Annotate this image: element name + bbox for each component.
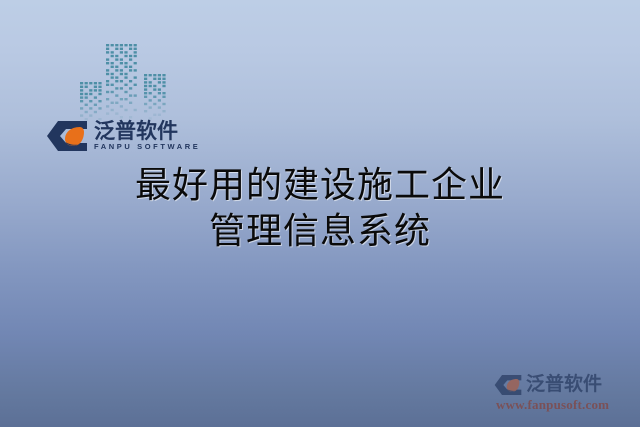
presentation-slide: 泛普软件 FANPU SOFTWARE 最好用的建设施工企业 管理信息系统 泛普… — [0, 0, 640, 427]
slide-title-line-2: 管理信息系统 — [0, 209, 640, 255]
slide-title-line-1: 最好用的建设施工企业 — [0, 163, 640, 209]
slide-title: 最好用的建设施工企业 管理信息系统 — [0, 163, 640, 254]
fanpu-logo-mark-icon — [46, 120, 88, 152]
company-name-en: FANPU SOFTWARE — [94, 142, 200, 153]
watermark-logo-row: 泛普软件 — [494, 374, 634, 396]
skyline-svg — [76, 38, 172, 122]
watermark-url: www.fanpusoft.com — [494, 397, 634, 413]
fanpu-logo-text: 泛普软件 FANPU SOFTWARE — [94, 120, 200, 153]
watermark-logo-mark-icon — [494, 374, 522, 396]
watermark-company-name: 泛普软件 — [526, 375, 602, 394]
watermark: 泛普软件 www.fanpusoft.com — [494, 374, 634, 413]
company-name-cn: 泛普软件 — [94, 120, 200, 142]
pixel-city-skyline-graphic — [76, 38, 172, 122]
fanpu-logo: 泛普软件 FANPU SOFTWARE — [46, 120, 200, 153]
